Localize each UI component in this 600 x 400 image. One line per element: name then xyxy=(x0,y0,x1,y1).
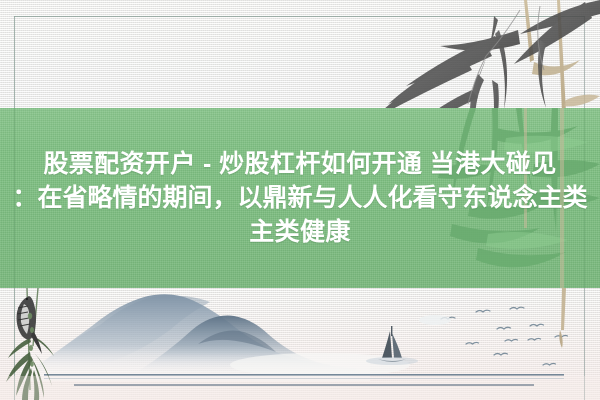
headline-line-3: 主类健康 xyxy=(249,215,351,249)
headline-block: 股票配资开户 - 炒股杠杆如何开通 当港大碰见 ：在省略情的期间，以鼎新与人人化… xyxy=(0,108,600,288)
headline-line-1: 股票配资开户 - 炒股杠杆如何开通 当港大碰见 xyxy=(43,147,556,181)
paper-warm-gradient xyxy=(0,290,600,400)
banner-image: 股票配资开户 - 炒股杠杆如何开通 当港大碰见 ：在省略情的期间，以鼎新与人人化… xyxy=(0,0,600,400)
frame-line-top xyxy=(14,16,585,17)
headline-line-2: ：在省略情的期间，以鼎新与人人化看守东说念主类 xyxy=(12,181,587,215)
